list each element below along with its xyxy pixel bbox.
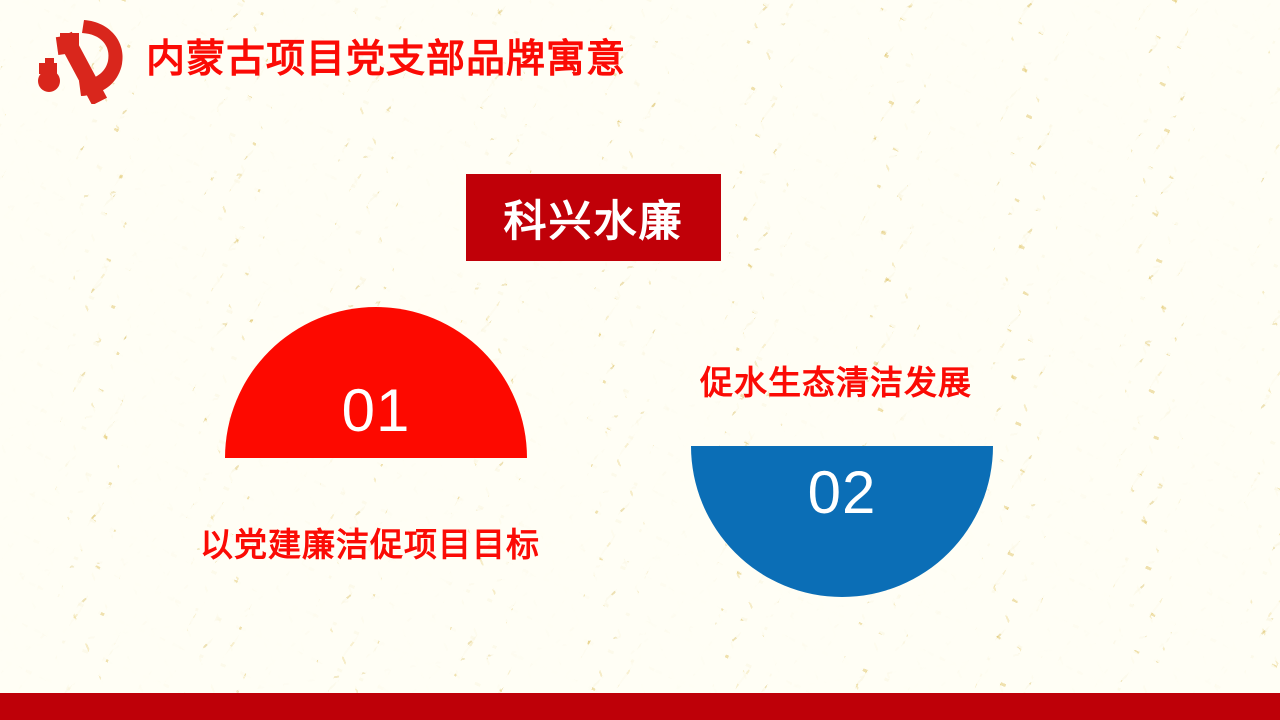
page-title: 内蒙古项目党支部品牌寓意 <box>146 38 626 83</box>
brand-banner: 科兴水廉 <box>466 174 721 261</box>
slide-canvas: 内蒙古项目党支部品牌寓意 科兴水廉 01 以党建廉洁促项目目标 02 促水生态清… <box>0 0 1280 720</box>
item-02-caption: 促水生态清洁发展 <box>700 356 972 404</box>
paper-texture-background <box>0 0 1280 720</box>
item-01-semicircle: 01 <box>225 307 527 458</box>
item-01-number: 01 <box>342 381 411 441</box>
cpc-hammer-sickle-icon <box>27 16 131 104</box>
item-02-number: 02 <box>808 463 877 523</box>
footer-bar <box>0 693 1280 720</box>
item-01-caption: 以党建廉洁促项目目标 <box>200 518 540 566</box>
item-02-semicircle: 02 <box>691 446 993 597</box>
brand-banner-label: 科兴水廉 <box>504 187 684 249</box>
